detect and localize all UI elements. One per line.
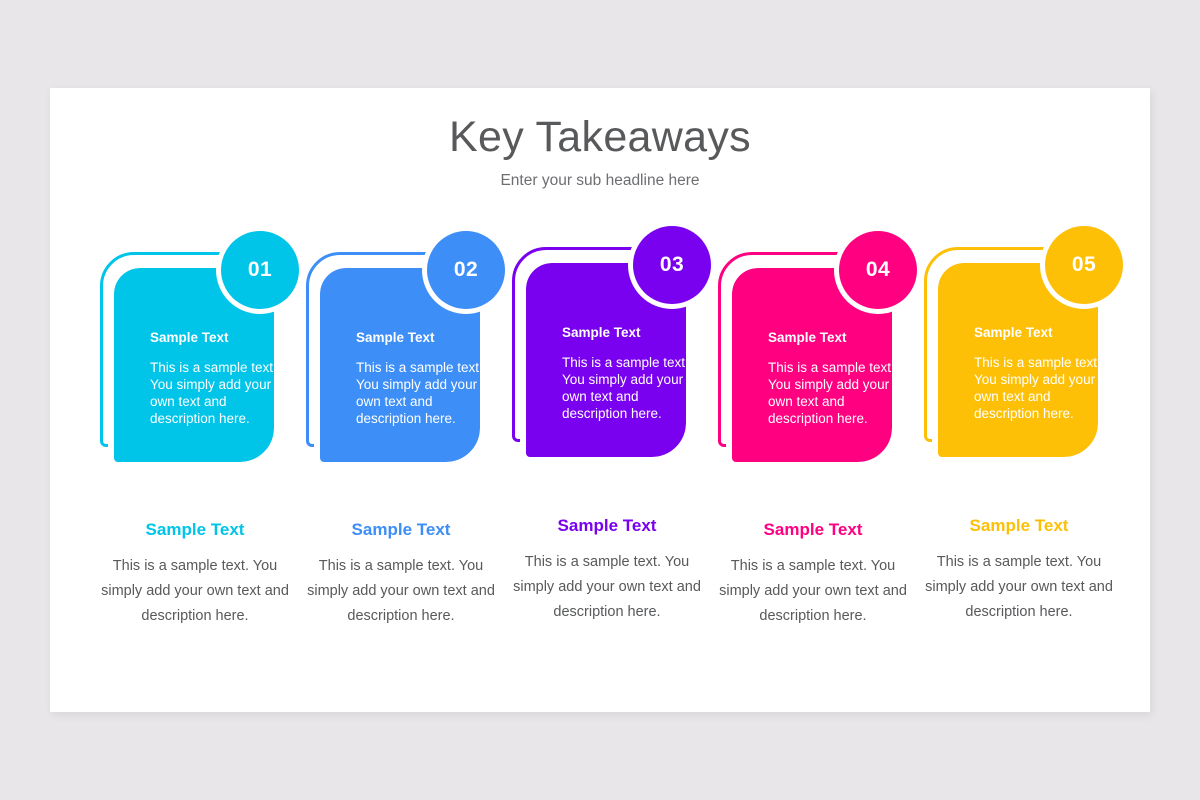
caption-heading-1: Sample Text	[84, 520, 306, 540]
card-graphic-5: Sample Text This is a sample text. You s…	[916, 221, 1122, 483]
caption-2: Sample Text This is a sample text. You s…	[290, 520, 512, 629]
card-heading-5: Sample Text	[974, 325, 1106, 341]
card-heading-2: Sample Text	[356, 330, 488, 346]
caption-body-3: This is a sample text. You simply add yo…	[496, 550, 718, 625]
card-text-1: Sample Text This is a sample text. You s…	[150, 330, 282, 428]
card-graphic-3: Sample Text This is a sample text. You s…	[504, 221, 710, 483]
step-number-badge-2[interactable]: 02	[427, 231, 505, 309]
caption-1: Sample Text This is a sample text. You s…	[84, 520, 306, 629]
caption-heading-5: Sample Text	[908, 516, 1130, 536]
card-graphic-2: Sample Text This is a sample text. You s…	[298, 226, 504, 488]
step-number-badge-3[interactable]: 03	[633, 226, 711, 304]
infographic-item-2[interactable]: Sample Text This is a sample text. You s…	[298, 88, 504, 712]
caption-heading-2: Sample Text	[290, 520, 512, 540]
card-body-4: This is a sample text. You simply add yo…	[768, 360, 900, 428]
card-text-4: Sample Text This is a sample text. You s…	[768, 330, 900, 428]
caption-heading-4: Sample Text	[702, 520, 924, 540]
slide-panel: Key Takeaways Enter your sub headline he…	[50, 88, 1150, 712]
card-body-2: This is a sample text. You simply add yo…	[356, 360, 488, 428]
caption-body-1: This is a sample text. You simply add yo…	[84, 554, 306, 629]
caption-3: Sample Text This is a sample text. You s…	[496, 516, 718, 625]
step-number-badge-4[interactable]: 04	[839, 231, 917, 309]
caption-4: Sample Text This is a sample text. You s…	[702, 520, 924, 629]
card-text-3: Sample Text This is a sample text. You s…	[562, 325, 694, 423]
card-text-5: Sample Text This is a sample text. You s…	[974, 325, 1106, 423]
caption-body-2: This is a sample text. You simply add yo…	[290, 554, 512, 629]
caption-5: Sample Text This is a sample text. You s…	[908, 516, 1130, 625]
caption-body-5: This is a sample text. You simply add yo…	[908, 550, 1130, 625]
card-graphic-1: Sample Text This is a sample text. You s…	[92, 226, 298, 488]
card-heading-4: Sample Text	[768, 330, 900, 346]
caption-body-4: This is a sample text. You simply add yo…	[702, 554, 924, 629]
infographic-item-3[interactable]: Sample Text This is a sample text. You s…	[504, 88, 710, 712]
card-body-3: This is a sample text. You simply add yo…	[562, 355, 694, 423]
card-text-2: Sample Text This is a sample text. You s…	[356, 330, 488, 428]
step-number-badge-5[interactable]: 05	[1045, 226, 1123, 304]
infographic-item-5[interactable]: Sample Text This is a sample text. You s…	[916, 88, 1122, 712]
card-heading-3: Sample Text	[562, 325, 694, 341]
card-body-5: This is a sample text. You simply add yo…	[974, 355, 1106, 423]
step-number-badge-1[interactable]: 01	[221, 231, 299, 309]
caption-heading-3: Sample Text	[496, 516, 718, 536]
card-heading-1: Sample Text	[150, 330, 282, 346]
infographic-columns: Sample Text This is a sample text. You s…	[50, 88, 1150, 712]
card-graphic-4: Sample Text This is a sample text. You s…	[710, 226, 916, 488]
infographic-item-1[interactable]: Sample Text This is a sample text. You s…	[92, 88, 298, 712]
infographic-item-4[interactable]: Sample Text This is a sample text. You s…	[710, 88, 916, 712]
card-body-1: This is a sample text. You simply add yo…	[150, 360, 282, 428]
